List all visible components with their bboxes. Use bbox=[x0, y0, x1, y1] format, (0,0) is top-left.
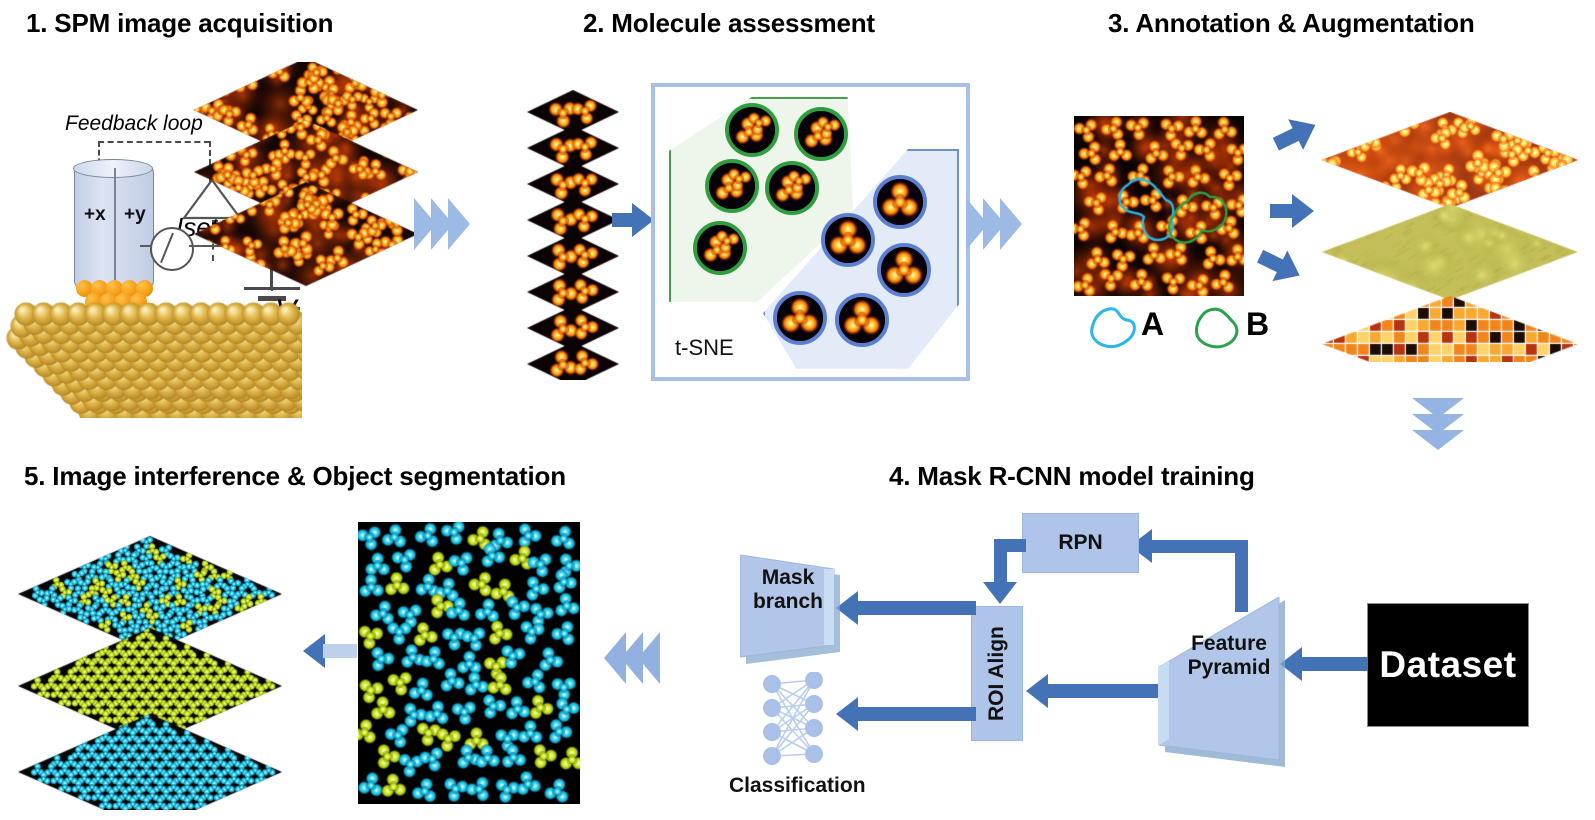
tsne-method-label: t-SNE bbox=[675, 335, 734, 361]
dataset-block[interactable]: Dataset bbox=[1367, 603, 1529, 727]
mask-branch-label-line1: Mask bbox=[745, 566, 831, 590]
chevron-down-icon bbox=[1412, 430, 1464, 450]
piezo-scanner-tube: +x +y bbox=[74, 167, 154, 287]
legend-outline-b-icon bbox=[1190, 306, 1242, 352]
classification-network-icon bbox=[756, 672, 832, 768]
rpn-block[interactable]: RPN bbox=[1022, 513, 1139, 573]
segmented-image-stack bbox=[10, 520, 290, 810]
meter-wire-left bbox=[140, 245, 152, 247]
wire-rpn-to-roi-vertical bbox=[994, 539, 1007, 584]
tsne-molecule-b[interactable] bbox=[821, 213, 875, 267]
tsne-molecule-b[interactable] bbox=[773, 291, 827, 345]
piezo-divider bbox=[114, 168, 116, 286]
tsne-molecule-a[interactable] bbox=[705, 159, 759, 213]
chevron-group-2to3 bbox=[966, 198, 1017, 250]
tsne-molecule-a[interactable] bbox=[765, 161, 819, 215]
segmented-output-image bbox=[358, 522, 580, 804]
tsne-molecule-a[interactable] bbox=[794, 107, 848, 161]
tsne-molecule-a[interactable] bbox=[725, 103, 779, 157]
tsne-molecule-a[interactable] bbox=[693, 221, 747, 275]
arrow-into-roi-align bbox=[983, 582, 1017, 604]
legend-label-b: B bbox=[1246, 306, 1269, 343]
panel-title-1: 1. SPM image acquisition bbox=[26, 8, 333, 39]
tsne-molecule-b[interactable] bbox=[835, 293, 889, 347]
classification-label: Classification bbox=[729, 774, 866, 798]
feature-pyramid-label-line2: Pyramid bbox=[1176, 656, 1282, 680]
chevron-group-4to5 bbox=[604, 632, 655, 684]
tsne-molecule-b[interactable] bbox=[873, 175, 927, 229]
tsne-plot-panel: t-SNE bbox=[651, 83, 970, 381]
chevron-group-3to4 bbox=[1412, 398, 1464, 446]
mask-branch-label-line2: branch bbox=[745, 590, 831, 614]
figure-canvas: 1. SPM image acquisition 2. Molecule ass… bbox=[0, 0, 1595, 820]
chevron-group-1to2 bbox=[414, 198, 465, 250]
wire-pyramid-to-rpn-horizontal bbox=[1152, 540, 1242, 553]
feature-pyramid-block[interactable] bbox=[1157, 597, 1293, 767]
panel-title-5: 5. Image interference & Object segmentat… bbox=[24, 461, 566, 492]
panel-title-3: 3. Annotation & Augmentation bbox=[1108, 8, 1475, 39]
chevron-right-icon bbox=[1000, 198, 1022, 250]
mask-branch-label: Mask branch bbox=[745, 566, 831, 613]
feature-pyramid-label-line1: Feature bbox=[1176, 632, 1282, 656]
feature-pyramid-label: Feature Pyramid bbox=[1176, 632, 1282, 679]
piezo-plus-x-label: +x bbox=[84, 204, 106, 226]
chevron-left-icon bbox=[638, 632, 660, 684]
panel-title-2: 2. Molecule assessment bbox=[583, 8, 875, 39]
annotated-spm-image bbox=[1074, 116, 1244, 296]
piezo-plus-y-label: +y bbox=[124, 204, 146, 226]
feedback-loop-label: Feedback loop bbox=[65, 112, 203, 136]
chevron-right-icon bbox=[448, 198, 470, 250]
roi-align-block[interactable]: ROI Align bbox=[971, 606, 1023, 741]
legend-outline-a-icon bbox=[1087, 306, 1139, 352]
panel-title-4: 4. Mask R-CNN model training bbox=[889, 461, 1255, 492]
gold-substrate-lattice bbox=[2, 288, 302, 418]
spm-image-stack bbox=[188, 62, 423, 292]
molecule-filmstrip bbox=[523, 90, 623, 380]
tsne-molecule-b[interactable] bbox=[877, 243, 931, 297]
legend-label-a: A bbox=[1141, 306, 1164, 343]
augmented-image-stack bbox=[1300, 112, 1590, 362]
